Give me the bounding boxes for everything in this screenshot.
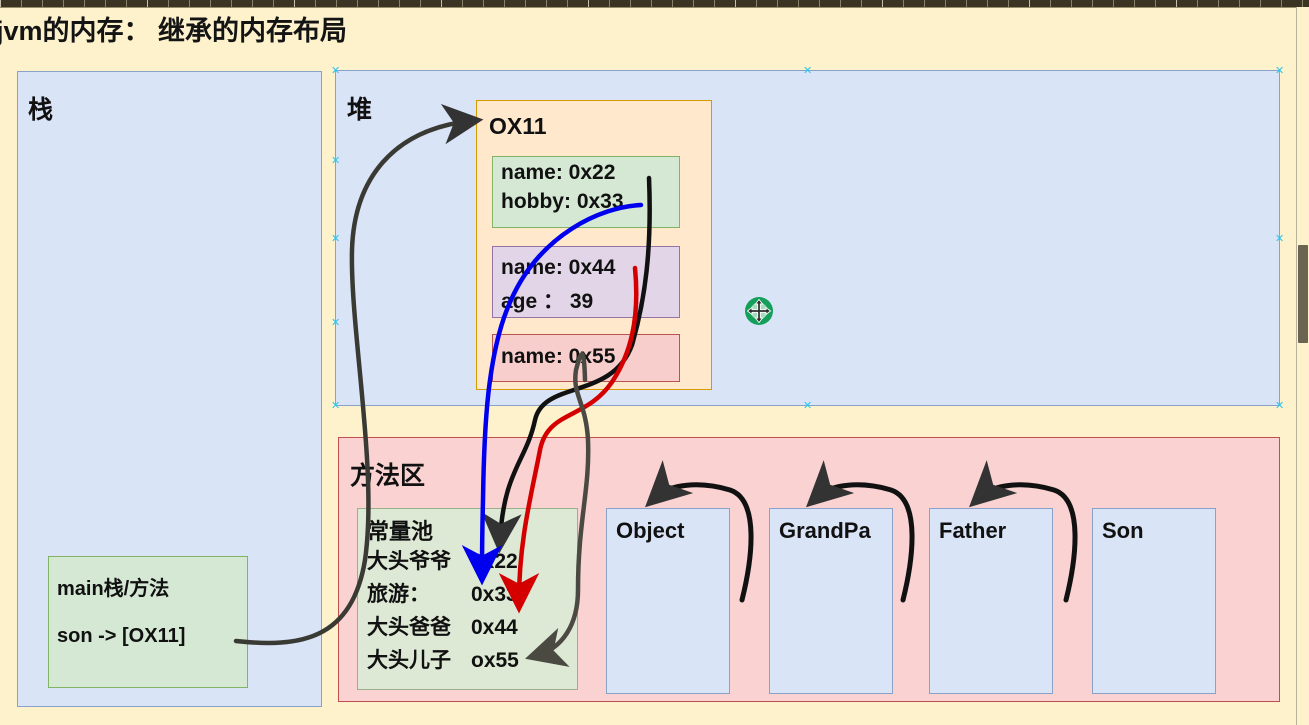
ruler-tick xyxy=(1155,0,1156,7)
vertical-scrollbar-thumb[interactable] xyxy=(1298,245,1308,343)
ruler-tick xyxy=(462,0,463,7)
ruler-tick xyxy=(42,0,43,7)
field-line: age ： 39 xyxy=(501,285,593,315)
stack-region-label: 栈 xyxy=(28,90,53,126)
ruler-tick xyxy=(861,0,862,7)
ruler-tick xyxy=(378,0,379,7)
constant-pool-entry: 大头儿子ox55 xyxy=(367,644,519,674)
ruler-tick xyxy=(168,0,169,7)
ruler-tick xyxy=(147,0,148,7)
ruler-tick xyxy=(273,0,274,7)
ruler-tick xyxy=(588,0,589,7)
ruler-tick xyxy=(441,0,442,7)
ruler-tick xyxy=(63,0,64,7)
ruler-tick xyxy=(294,0,295,7)
ruler-tick xyxy=(1197,0,1198,7)
stack-frame-line-2: son -> [OX11] xyxy=(57,625,185,648)
ruler-tick xyxy=(1260,0,1261,7)
ruler-tick xyxy=(546,0,547,7)
ruler-tick xyxy=(0,0,1,7)
ruler-tick xyxy=(798,0,799,7)
ruler-tick xyxy=(693,0,694,7)
move-cursor-icon xyxy=(744,296,774,326)
ruler-tick xyxy=(21,0,22,7)
object-field-block-son: name: 0x55 xyxy=(492,334,680,382)
stack-frame-line-1: main栈/方法 xyxy=(57,572,169,601)
ruler-tick xyxy=(987,0,988,7)
ruler-tick xyxy=(210,0,211,7)
ruler-tick xyxy=(504,0,505,7)
ruler-tick xyxy=(483,0,484,7)
selection-handle-nw[interactable]: ✕ xyxy=(331,66,340,75)
vertical-scrollbar[interactable] xyxy=(1296,7,1309,725)
method-area-label: 方法区 xyxy=(350,456,425,492)
ruler-tick xyxy=(777,0,778,7)
ruler-tick xyxy=(105,0,106,7)
ruler-tick xyxy=(840,0,841,7)
ruler-tick xyxy=(1071,0,1072,7)
object-field-block-father: name: 0x44 age ： 39 xyxy=(492,246,680,318)
ruler-tick xyxy=(819,0,820,7)
class-name: Son xyxy=(1102,518,1144,544)
class-box-grandpa: GrandPa xyxy=(769,508,893,694)
ruler-tick xyxy=(1176,0,1177,7)
ruler-tick xyxy=(399,0,400,7)
class-name: GrandPa xyxy=(779,518,871,544)
pool-entry-key: 大头儿子 xyxy=(367,644,471,674)
ruler-tick xyxy=(714,0,715,7)
page-title: jvm的内存： 继承的内存布局 xyxy=(0,9,347,48)
heap-object-id: OX11 xyxy=(489,113,547,140)
ruler-tick xyxy=(1281,0,1282,7)
ruler-tick xyxy=(1050,0,1051,7)
ruler-tick xyxy=(630,0,631,7)
ruler-tick xyxy=(1302,0,1303,7)
ruler-tick xyxy=(735,0,736,7)
class-name: Object xyxy=(616,518,684,544)
pool-entry-value: 0x33 xyxy=(471,583,518,607)
heap-object-OX11: OX11 name: 0x22 hobby: 0x33 name: 0x44 a… xyxy=(476,100,712,390)
field-line: name: 0x44 xyxy=(501,256,615,280)
ruler-tick xyxy=(1029,0,1030,7)
ruler-tick xyxy=(903,0,904,7)
constant-pool-entry: 大头爸爸0x44 xyxy=(367,611,518,641)
ruler-tick xyxy=(1092,0,1093,7)
selection-handle-s[interactable]: ✕ xyxy=(803,401,812,410)
constant-pool-entry: 旅游：0x33 xyxy=(367,578,518,608)
selection-handle-w2[interactable]: ✕ xyxy=(331,156,340,165)
ruler-tick xyxy=(609,0,610,7)
class-box-father: Father xyxy=(929,508,1053,694)
ruler-tick xyxy=(756,0,757,7)
ruler-tick xyxy=(252,0,253,7)
class-name: Father xyxy=(939,518,1006,544)
ruler-tick xyxy=(357,0,358,7)
ruler-tick xyxy=(924,0,925,7)
constant-pool-title: 常量池 xyxy=(367,514,433,546)
selection-handle-se[interactable]: ✕ xyxy=(1275,401,1284,410)
constant-pool: 常量池 大头爷爷0x22 旅游：0x33 大头爸爸0x44 大头儿子ox55 xyxy=(357,508,578,690)
ruler-tick xyxy=(651,0,652,7)
pool-entry-key: 大头爸爸 xyxy=(367,611,471,641)
ruler-tick xyxy=(189,0,190,7)
class-box-object: Object xyxy=(606,508,730,694)
selection-handle-n[interactable]: ✕ xyxy=(803,66,812,75)
object-field-block-grandpa: name: 0x22 hobby: 0x33 xyxy=(492,156,680,228)
ruler-tick xyxy=(84,0,85,7)
ruler-tick xyxy=(420,0,421,7)
field-line: name: 0x55 xyxy=(501,345,615,369)
pool-entry-key: 旅游： xyxy=(367,578,471,608)
selection-handle-e[interactable]: ✕ xyxy=(1275,234,1284,243)
ruler-tick xyxy=(1008,0,1009,7)
pool-entry-key: 大头爷爷 xyxy=(367,545,471,575)
ruler-tick xyxy=(1239,0,1240,7)
ruler-tick xyxy=(966,0,967,7)
pool-entry-value: 0x22 xyxy=(471,550,518,574)
ruler-tick xyxy=(1134,0,1135,7)
ruler-tick xyxy=(567,0,568,7)
ruler-tick xyxy=(336,0,337,7)
selection-handle-w[interactable]: ✕ xyxy=(331,234,340,243)
ruler-tick xyxy=(672,0,673,7)
constant-pool-entry: 大头爷爷0x22 xyxy=(367,545,518,575)
selection-handle-sw[interactable]: ✕ xyxy=(331,401,340,410)
field-line: hobby: 0x33 xyxy=(501,190,624,214)
ruler-tick xyxy=(1113,0,1114,7)
ruler-tick xyxy=(945,0,946,7)
ruler-tick xyxy=(1218,0,1219,7)
selection-handle-w3[interactable]: ✕ xyxy=(331,318,340,327)
pool-entry-value: 0x44 xyxy=(471,616,518,640)
ruler-tick xyxy=(525,0,526,7)
selection-handle-ne[interactable]: ✕ xyxy=(1275,66,1284,75)
pool-entry-value: ox55 xyxy=(471,649,519,673)
top-ruler xyxy=(0,0,1309,8)
ruler-tick xyxy=(126,0,127,7)
ruler-tick xyxy=(882,0,883,7)
class-box-son: Son xyxy=(1092,508,1216,694)
field-line: name: 0x22 xyxy=(501,161,615,185)
main-stack-frame: main栈/方法 son -> [OX11] xyxy=(48,556,248,688)
ruler-tick xyxy=(315,0,316,7)
heap-region-label: 堆 xyxy=(347,90,372,126)
ruler-tick xyxy=(231,0,232,7)
